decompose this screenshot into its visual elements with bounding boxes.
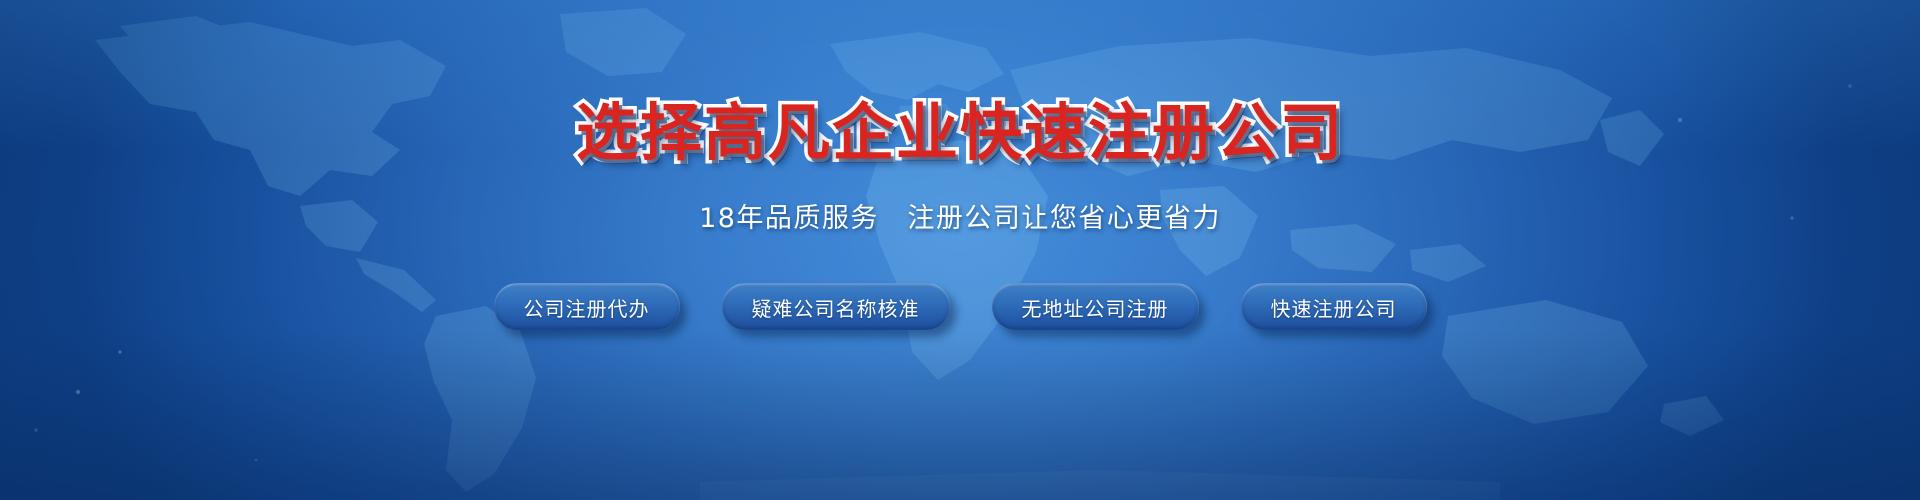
hero-banner: 选择高凡企业快速注册公司 18年品质服务 注册公司让您省心更省力 公司注册代办 … [0,0,1920,500]
service-pill-fast-registration[interactable]: 快速注册公司 [1241,283,1427,330]
service-pill-difficult-name-approval[interactable]: 疑难公司名称核准 [722,283,950,330]
banner-title-wrap: 选择高凡企业快速注册公司 [576,96,1344,170]
service-pill-company-registration-agency[interactable]: 公司注册代办 [494,283,680,330]
banner-title: 选择高凡企业快速注册公司 [576,102,1344,164]
service-pill-no-address-registration[interactable]: 无地址公司注册 [992,283,1199,330]
banner-subtitle: 18年品质服务 注册公司让您省心更省力 [699,196,1221,235]
service-pill-list: 公司注册代办 疑难公司名称核准 无地址公司注册 快速注册公司 [494,283,1427,330]
banner-content: 选择高凡企业快速注册公司 18年品质服务 注册公司让您省心更省力 公司注册代办 … [0,0,1920,500]
